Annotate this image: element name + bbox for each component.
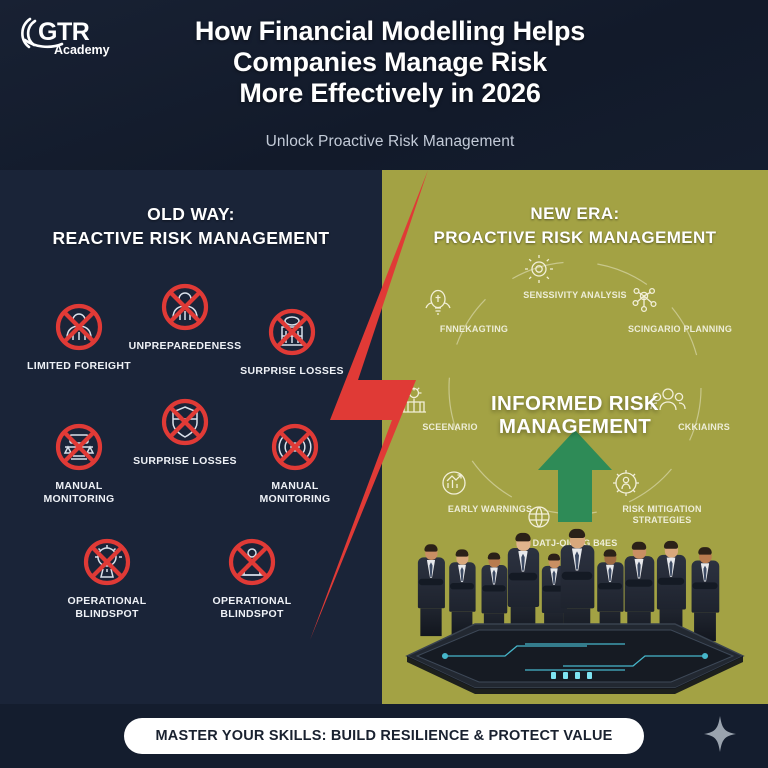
header-bar: GTR Academy How Financial Modelling Help… — [0, 0, 768, 170]
person-body — [560, 545, 594, 608]
person-hair — [515, 533, 530, 542]
risk-cycle-ring: SENSSIVITY ANALYSIS SCINGARIO — [382, 248, 768, 528]
ring-node: SCINGARIO PLANNING — [625, 284, 735, 335]
old-way-heading-line1: OLD WAY: — [0, 202, 382, 226]
person-head — [632, 544, 646, 559]
person-hair — [569, 529, 585, 538]
person-body — [691, 561, 719, 613]
old-way-item: OPERATIONAL BLINDSPOT — [47, 535, 167, 620]
new-era-heading-line1: NEW ERA: — [382, 202, 768, 226]
ring-node: SENSSIVITY ANALYSIS — [520, 250, 630, 301]
cta-banner[interactable]: MASTER YOUR SKILLS: BUILD RESILIENCE & P… — [124, 718, 644, 754]
old-way-item-label: SURPRISE LOSSES — [125, 455, 245, 468]
no-person-icon — [158, 280, 212, 334]
old-way-panel: OLD WAY: REACTIVE RISK MANAGEMENT LIMITE… — [0, 170, 382, 704]
old-way-item-label: OPERATIONAL BLINDSPOT — [192, 595, 312, 620]
old-way-item-label: SURPRISE LOSSES — [232, 365, 352, 378]
no-gear-person-icon — [80, 535, 134, 589]
old-way-item-label: MANUAL MONITORING — [235, 480, 355, 505]
person-body — [481, 565, 507, 613]
ring-node-label: EARLY WARNINGS — [435, 504, 545, 515]
person-head — [425, 546, 437, 560]
old-way-item-label: UNPREPAREDENESS — [125, 340, 245, 353]
ring-node: FNNEKAGTING — [419, 284, 529, 335]
new-era-heading-line2: PROACTIVE RISK MANAGEMENT — [382, 226, 768, 250]
logo-text: GTR — [38, 18, 90, 46]
no-radar-icon — [268, 420, 322, 474]
new-era-heading: NEW ERA: PROACTIVE RISK MANAGEMENT — [382, 202, 768, 250]
person-arms — [658, 578, 684, 585]
gear-icon — [556, 250, 594, 288]
network-node-icon — [661, 284, 699, 322]
old-way-item-label: MANUAL MONITORING — [19, 480, 139, 505]
footer-bar: MASTER YOUR SKILLS: BUILD RESILIENCE & P… — [0, 704, 768, 768]
title-line-2: Companies Manage Risk — [120, 47, 660, 78]
person-arms — [626, 580, 653, 587]
person-arms — [692, 582, 717, 589]
person-arms — [509, 573, 538, 581]
center-label-line2: MANAGEMENT — [382, 415, 768, 438]
person-body — [417, 557, 444, 608]
old-way-item: LIMITED FOREIGHT — [19, 300, 139, 373]
four-point-sparkle-icon — [704, 716, 736, 752]
person-body — [624, 556, 654, 612]
person-head — [488, 554, 500, 567]
old-way-item: MANUAL MONITORING — [235, 420, 355, 505]
center-label-line1: INFORMED RISK — [382, 392, 768, 415]
old-way-heading: OLD WAY: REACTIVE RISK MANAGEMENT — [0, 202, 382, 250]
no-alert-icon — [225, 535, 279, 589]
old-way-item: SURPRISE LOSSES — [232, 305, 352, 378]
person-arms — [419, 579, 444, 586]
title-line-3: More Effectively in 2026 — [120, 78, 660, 109]
person-head — [516, 535, 530, 551]
no-person-icon — [52, 300, 106, 354]
title-line-1: How Financial Modelling Helps — [120, 16, 660, 47]
page-subtitle: Unlock Proactive Risk Management — [120, 133, 660, 151]
ring-node-label: SENSSIVITY ANALYSIS — [520, 290, 630, 301]
old-way-item: SURPRISE LOSSES — [125, 395, 245, 468]
person-head — [699, 549, 712, 563]
person-body — [597, 562, 623, 612]
ring-node-label: SCINGARIO PLANNING — [625, 324, 735, 335]
person-body — [507, 548, 538, 607]
page-title: How Financial Modelling Helps Companies … — [120, 16, 660, 109]
no-shield-icon — [158, 395, 212, 449]
person-arms — [598, 583, 622, 589]
logo-subtext: Academy — [54, 43, 110, 57]
person-body — [449, 562, 475, 612]
person-arms — [482, 585, 505, 591]
person-hair — [632, 542, 646, 550]
person-head — [604, 551, 616, 565]
person-arms — [450, 583, 474, 589]
person-head — [548, 555, 559, 568]
business-team-photo — [382, 514, 768, 704]
hexagon-tech-platform — [405, 622, 745, 696]
no-scales-icon — [52, 420, 106, 474]
center-label: INFORMED RISK MANAGEMENT — [382, 392, 768, 438]
person-hair — [664, 541, 678, 549]
cta-text: MASTER YOUR SKILLS: BUILD RESILIENCE & P… — [156, 728, 613, 744]
person-hair — [548, 554, 560, 561]
no-factory-icon — [265, 305, 319, 359]
old-way-item: OPERATIONAL BLINDSPOT — [192, 535, 312, 620]
old-way-item-label: OPERATIONAL BLINDSPOT — [47, 595, 167, 620]
lightbulb-idea-icon — [455, 284, 493, 322]
person-hair — [456, 549, 469, 556]
green-up-arrow-icon — [538, 430, 612, 522]
new-era-panel: NEW ERA: PROACTIVE RISK MANAGEMENT — [382, 170, 768, 704]
old-way-item: MANUAL MONITORING — [19, 420, 139, 505]
person-hair — [698, 547, 711, 555]
person-head — [456, 551, 468, 565]
person-hair — [488, 553, 500, 560]
old-way-item-label: LIMITED FOREIGHT — [19, 360, 139, 373]
growth-chart-icon — [471, 464, 509, 502]
ring-node-label: FNNEKAGTING — [419, 324, 529, 335]
infographic-poster: GTR Academy How Financial Modelling Help… — [0, 0, 768, 768]
person-body — [656, 555, 685, 610]
person-hair — [604, 549, 617, 556]
gtr-academy-logo: GTR Academy — [16, 10, 120, 60]
shield-person-icon — [643, 464, 681, 502]
ring-node: EARLY WARNINGS — [435, 464, 545, 515]
old-way-item: UNPREPAREDENESS — [125, 280, 245, 353]
person-head — [664, 543, 677, 558]
person-hair — [424, 544, 437, 551]
person-arms — [562, 572, 593, 580]
person-head — [569, 531, 584, 548]
old-way-heading-line2: REACTIVE RISK MANAGEMENT — [0, 226, 382, 250]
